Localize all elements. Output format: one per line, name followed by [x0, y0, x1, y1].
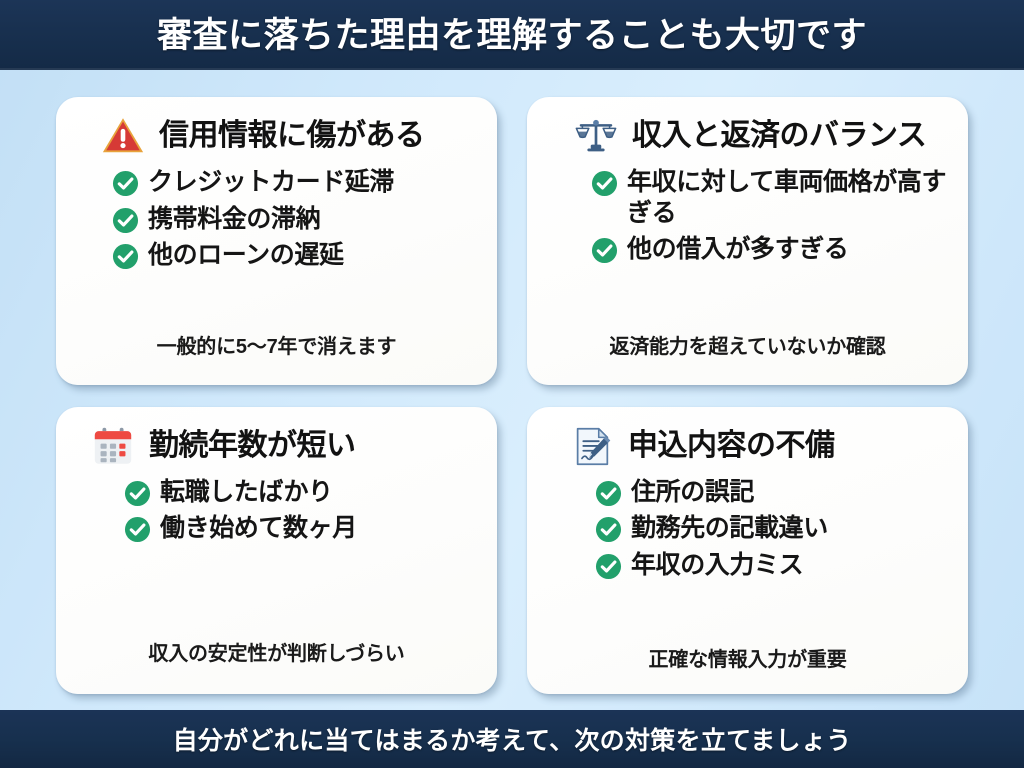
infographic-page: 審査に落ちた理由を理解することも大切です 信用情報に傷がある: [0, 0, 1024, 768]
card-title: 信用情報に傷がある: [159, 119, 425, 153]
warning-triangle-icon: [100, 113, 146, 159]
list-item: 他のローンの遅延: [112, 240, 477, 271]
card-note: 一般的に5〜7年で消えます: [76, 328, 477, 373]
card-title: 勤続年数が短い: [149, 429, 356, 463]
card-note: 正確な情報入力が重要: [547, 641, 948, 682]
list-item: 住所の誤記: [595, 477, 948, 508]
card-credit-history[interactable]: 信用情報に傷がある クレジットカード延滞: [56, 97, 497, 385]
check-circle-icon: [112, 243, 139, 270]
list-item-label: 年収の入力ミス: [631, 550, 803, 581]
card-item-list: 転職したばかり 働き始めて数ヶ月: [76, 477, 477, 636]
list-item: 年収の入力ミス: [595, 550, 948, 581]
list-item-label: 他の借入が多すぎる: [627, 234, 848, 265]
card-item-list: クレジットカード延滞 携帯料金の滞納: [76, 167, 477, 328]
list-item-label: 働き始めて数ヶ月: [160, 513, 357, 544]
list-item-label: 他のローンの遅延: [148, 240, 344, 271]
card-header: 信用情報に傷がある: [76, 113, 477, 159]
check-circle-icon: [112, 170, 139, 197]
balance-scale-icon: [573, 113, 619, 159]
document-pen-icon: [569, 423, 615, 469]
check-circle-icon: [591, 170, 618, 197]
card-grid: 信用情報に傷がある クレジットカード延滞: [0, 70, 1024, 710]
list-item: 他の借入が多すぎる: [591, 234, 948, 265]
check-circle-icon: [595, 480, 622, 507]
list-item-label: 住所の誤記: [631, 477, 754, 508]
card-title: 申込内容の不備: [628, 429, 835, 463]
page-title: 審査に落ちた理由を理解することも大切です: [157, 18, 867, 53]
check-circle-icon: [595, 516, 622, 543]
list-item: クレジットカード延滞: [112, 167, 477, 198]
calendar-icon: [90, 423, 136, 469]
card-header: 申込内容の不備: [547, 423, 948, 469]
list-item-label: クレジットカード延滞: [148, 167, 394, 198]
card-header: 勤続年数が短い: [76, 423, 477, 469]
footer-message: 自分がどれに当てはまるか考えて、次の対策を立てましょう: [173, 721, 852, 757]
card-income-balance[interactable]: 収入と返済のバランス 年収に対して車両価格が高すぎる: [527, 97, 968, 385]
list-item-label: 勤務先の記載違い: [631, 513, 828, 544]
list-item-label: 年収に対して車両価格が高すぎる: [627, 167, 948, 228]
list-item: 勤務先の記載違い: [595, 513, 948, 544]
card-note: 返済能力を超えていないか確認: [547, 328, 948, 373]
card-title: 収入と返済のバランス: [632, 119, 926, 153]
card-header: 収入と返済のバランス: [547, 113, 948, 159]
card-item-list: 年収に対して車両価格が高すぎる 他の借入が多すぎる: [547, 167, 948, 328]
check-circle-icon: [112, 207, 139, 234]
list-item-label: 転職したばかり: [160, 477, 333, 508]
card-item-list: 住所の誤記 勤務先の記載違い: [547, 477, 948, 642]
check-circle-icon: [124, 480, 151, 507]
check-circle-icon: [591, 237, 618, 264]
card-note: 収入の安定性が判断しづらい: [76, 635, 477, 682]
check-circle-icon: [595, 553, 622, 580]
list-item: 携帯料金の滞納: [112, 204, 477, 235]
list-item-label: 携帯料金の滞納: [148, 204, 320, 235]
header-banner: 審査に落ちた理由を理解することも大切です: [0, 0, 1024, 70]
list-item: 働き始めて数ヶ月: [124, 513, 477, 544]
list-item: 転職したばかり: [124, 477, 477, 508]
footer-banner: 自分がどれに当てはまるか考えて、次の対策を立てましょう: [0, 710, 1024, 768]
card-employment-length[interactable]: 勤続年数が短い 転職したばかり: [56, 407, 497, 695]
list-item: 年収に対して車両価格が高すぎる: [591, 167, 948, 228]
check-circle-icon: [124, 516, 151, 543]
card-application-errors[interactable]: 申込内容の不備 住所の誤記: [527, 407, 968, 695]
